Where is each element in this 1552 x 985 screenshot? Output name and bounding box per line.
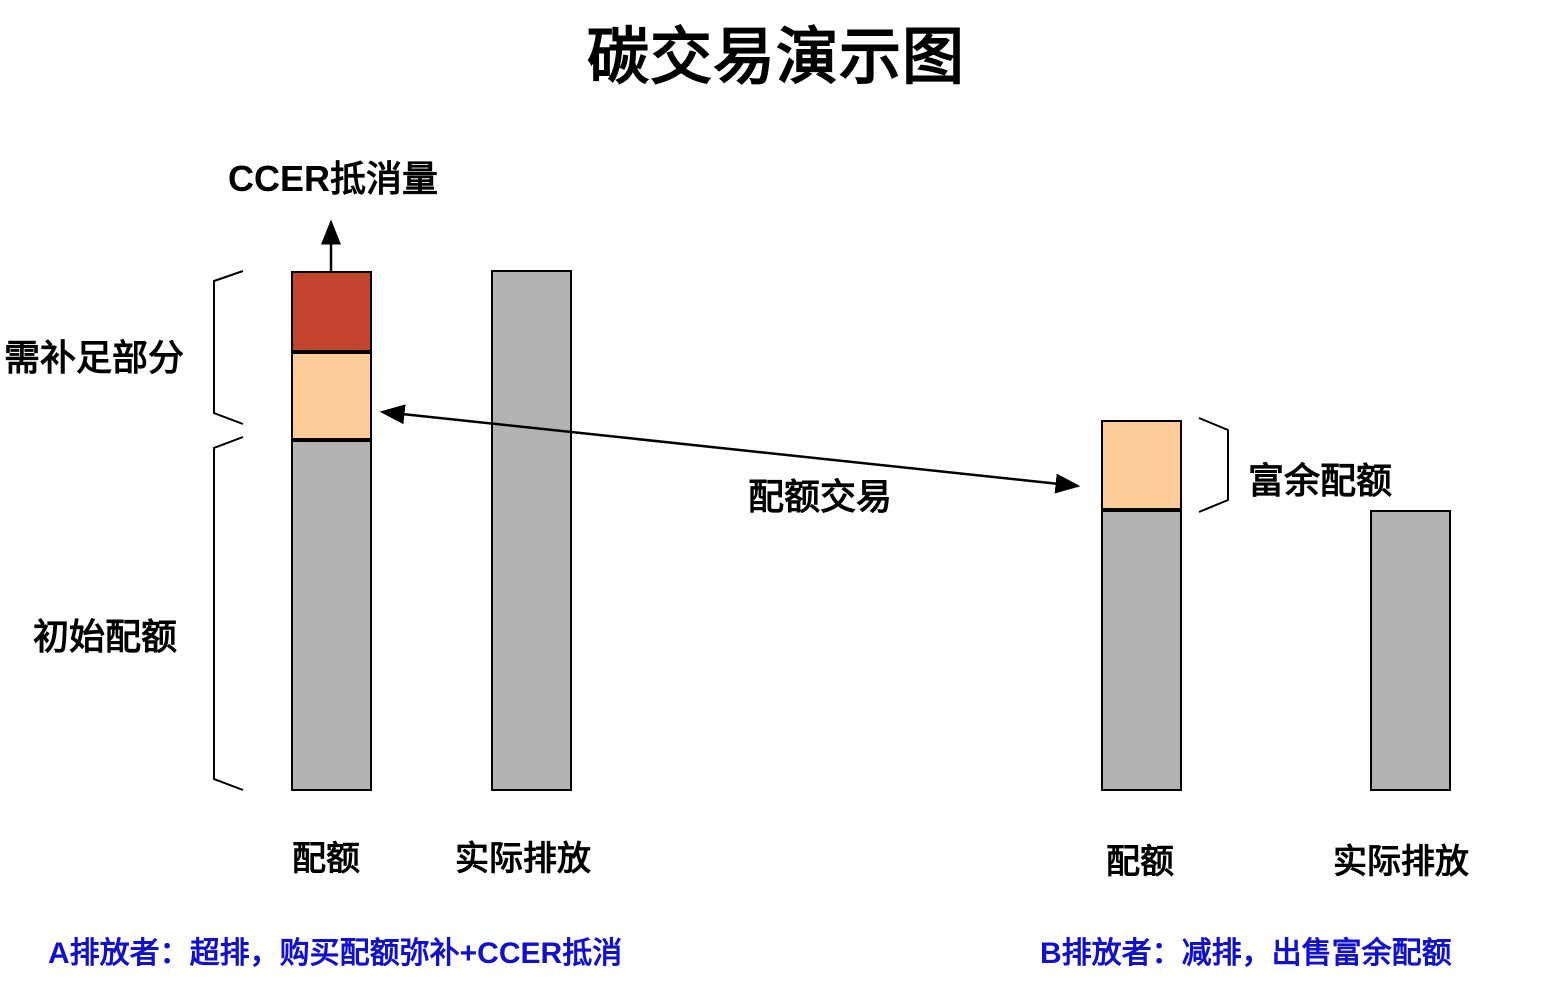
- bar-a-allowance-ccer-segment: [291, 271, 372, 352]
- surplus-allowance-bracket: [1199, 418, 1228, 512]
- axis-label-b-actual-emission: 实际排放: [1333, 834, 1469, 883]
- bar-b-actual-emission: [1370, 510, 1451, 791]
- bar-a-allowance-initial-segment: [291, 440, 372, 791]
- caption-emitter-b: B排放者：减排，出售富余配额: [1040, 928, 1452, 972]
- axis-label-b-allowance: 配额: [1106, 834, 1174, 883]
- diagram-canvas: 碳交易演示图: [0, 0, 1552, 985]
- ccer-offset-label: CCER抵消量: [228, 150, 438, 202]
- surplus-allowance-label: 富余配额: [1248, 452, 1392, 504]
- shortfall-label: 需补足部分: [4, 329, 184, 381]
- bar-a-allowance-purchased-segment: [291, 352, 372, 440]
- shortfall-bracket: [214, 271, 243, 424]
- page-title: 碳交易演示图: [0, 6, 1552, 96]
- bar-a-actual-emission: [491, 270, 572, 791]
- bar-b-allowance-initial-segment: [1101, 510, 1182, 791]
- initial-allowance-bracket: [214, 437, 243, 790]
- axis-label-a-actual-emission: 实际排放: [455, 831, 591, 880]
- caption-emitter-a: A排放者：超排，购买配额弥补+CCER抵消: [48, 928, 622, 972]
- bar-b-allowance-surplus-segment: [1101, 420, 1182, 510]
- initial-allowance-label: 初始配额: [33, 608, 177, 660]
- trade-arrow-label: 配额交易: [748, 468, 892, 520]
- axis-label-a-allowance: 配额: [292, 831, 360, 880]
